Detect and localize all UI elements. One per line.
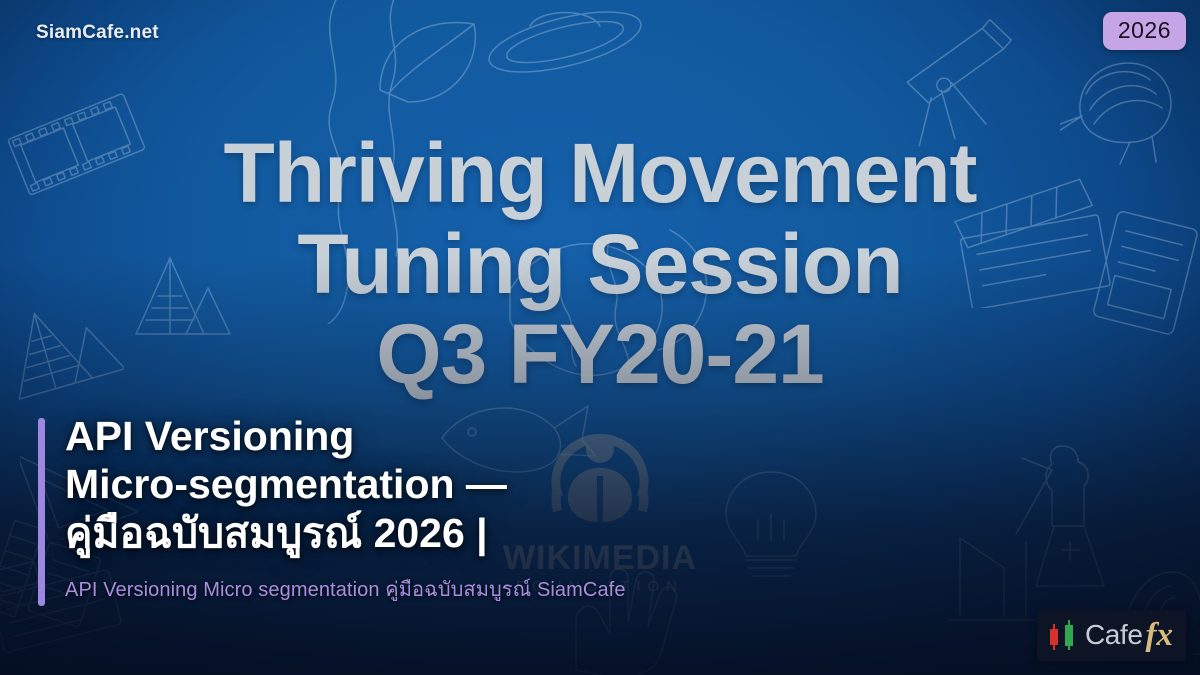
cafefx-logo[interactable]: Cafe fx (1037, 610, 1186, 661)
overlay-text-block: API Versioning Micro-segmentation — คู่ม… (38, 412, 738, 605)
planet-orbit-icon (470, 0, 660, 100)
slide-canvas: Thriving Movement Tuning Session Q3 FY20… (0, 0, 1200, 675)
page-subtitle: API Versioning Micro segmentation คู่มือ… (65, 573, 738, 605)
tablet-icon (1090, 210, 1200, 340)
headline-line-1: Thriving Movement (0, 128, 1200, 219)
headline-line-3: Q3 FY20-21 (0, 309, 1200, 400)
telescope-icon (880, 18, 1040, 148)
candlestick-icon (1048, 618, 1078, 652)
logo-word-cafe: Cafe (1085, 621, 1143, 649)
accent-bar (38, 418, 45, 606)
pyramid-icon-2 (128, 236, 238, 346)
background-headline: Thriving Movement Tuning Session Q3 FY20… (0, 128, 1200, 400)
year-badge: 2026 (1103, 12, 1186, 50)
kiwi-bird-icon (1060, 38, 1200, 168)
map-outline-icon (276, 0, 466, 324)
pyramid-icon (0, 290, 124, 400)
headline-line-2: Tuning Session (0, 219, 1200, 310)
page-title: API Versioning Micro-segmentation — คู่ม… (65, 412, 738, 558)
clapperboard-icon (950, 178, 1120, 308)
film-strip-icon (8, 88, 148, 208)
monument-icon (1000, 430, 1130, 600)
globe-outline-icon (470, 170, 770, 430)
logo-word-fx: fx (1146, 619, 1174, 652)
leaf-icon (370, 10, 500, 110)
site-watermark: SiamCafe.net (36, 22, 159, 44)
